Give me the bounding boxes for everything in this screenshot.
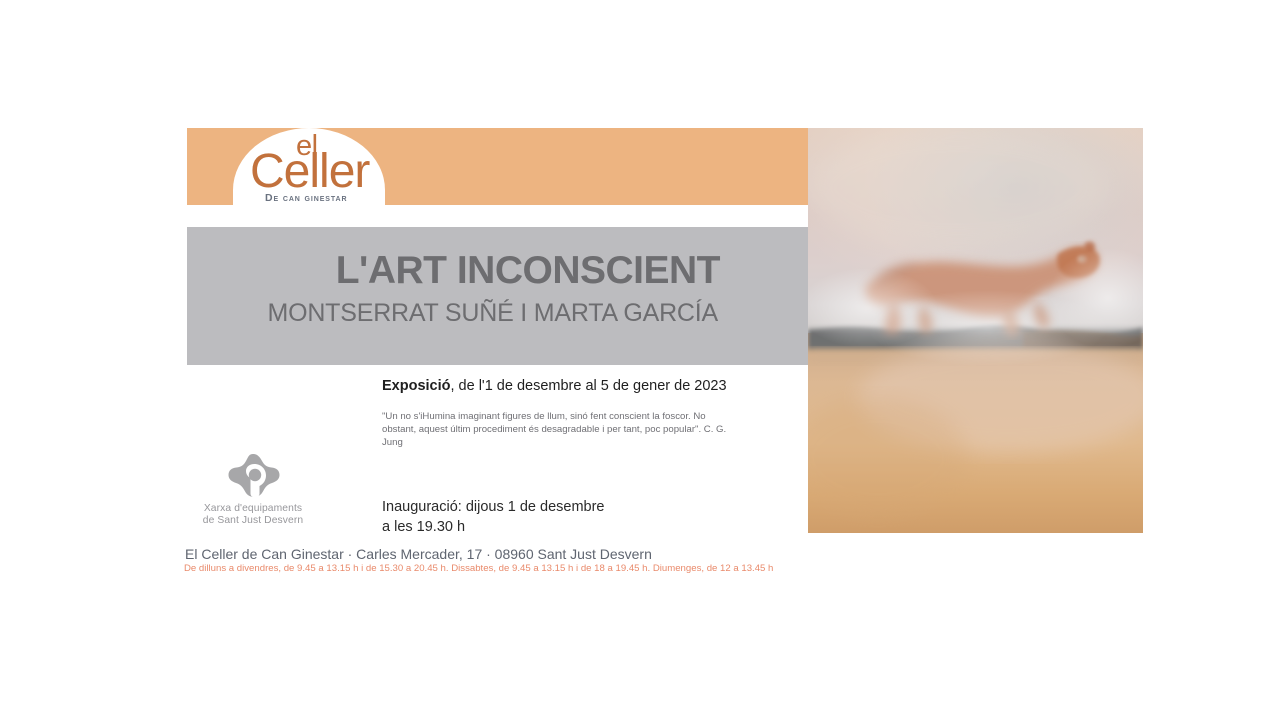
network-node-icon (183, 452, 323, 500)
exhibition-title: L'ART INCONSCIENT (336, 249, 720, 293)
exhibition-date-range: , de l'1 de desembre al 5 de gener de 20… (451, 378, 727, 394)
footer-opening-hours: De dilluns a divendres, de 9.45 a 13.15 … (184, 563, 773, 575)
logo-subtitle: de Can Ginestar (265, 193, 347, 204)
xarxa-line-1: Xarxa d'equipaments (183, 503, 323, 515)
xarxa-line-2: de Sant Just Desvern (183, 515, 323, 527)
exhibition-label: Exposició (382, 378, 451, 394)
exhibition-dates-line: Exposició, de l'1 de desembre al 5 de ge… (382, 377, 727, 395)
opening-line-2: a les 19.30 h (382, 517, 604, 537)
footer-address: El Celler de Can Ginestar · Carles Merca… (185, 545, 652, 563)
title-band: L'ART INCONSCIENT MONTSERRAT SUÑÉ I MART… (187, 227, 808, 365)
opening-info: Inauguració: dijous 1 de desembre a les … (382, 497, 604, 537)
artwork-image (808, 128, 1143, 533)
xarxa-logo-text: Xarxa d'equipaments de Sant Just Desvern (183, 503, 323, 526)
jung-quote: "Un no s'iHumina imaginant figures de ll… (382, 410, 727, 450)
exhibition-artists: MONTSERRAT SUÑÉ I MARTA GARCÍA (267, 299, 718, 327)
logo-word-celler: Celler (250, 148, 369, 196)
xarxa-logo: Xarxa d'equipaments de Sant Just Desvern (183, 452, 323, 532)
opening-line-1: Inauguració: dijous 1 de desembre (382, 497, 604, 517)
celler-logo: el Celler de Can Ginestar (233, 128, 385, 208)
poster: el Celler de Can Ginestar L'ART INCONSCI… (0, 0, 1280, 720)
